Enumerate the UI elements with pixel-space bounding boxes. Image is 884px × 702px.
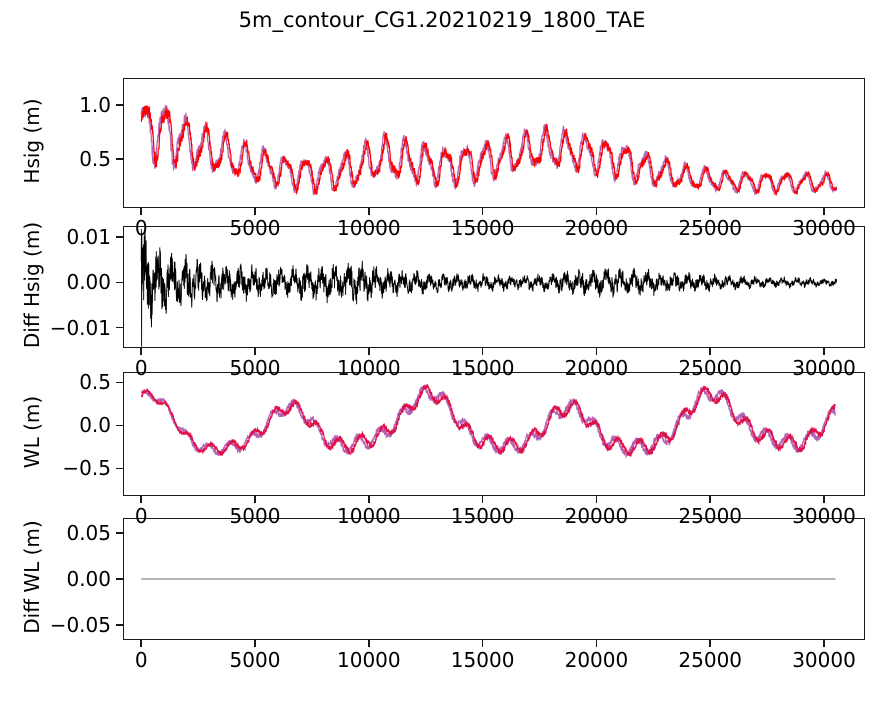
y-tick-label-wl-2: 0.5: [0, 370, 111, 394]
x-tick-mark-hsig-0: [140, 208, 142, 215]
y-tick-label-hsig-1: 1.0: [0, 93, 111, 117]
x-tick-label-hsig-1: 5000: [230, 216, 281, 240]
x-tick-label-diff_hsig-0: 0: [135, 356, 148, 380]
y-tick-mark-diff_wl-0: [116, 624, 123, 626]
subplot-diff-wl: [123, 518, 865, 640]
figure-canvas: 5m_contour_CG1.20210219_1800_TAE 0.51.00…: [0, 0, 884, 690]
plot-area-wl: [123, 372, 865, 496]
x-tick-label-wl-2: 10000: [337, 504, 401, 528]
x-tick-mark-wl-6: [823, 496, 825, 503]
x-tick-label-diff_hsig-3: 15000: [451, 356, 515, 380]
x-tick-label-diff_wl-2: 10000: [337, 648, 401, 672]
x-tick-label-diff_hsig-2: 10000: [337, 356, 401, 380]
x-tick-mark-hsig-6: [823, 208, 825, 215]
x-tick-label-diff_hsig-4: 20000: [565, 356, 629, 380]
x-tick-label-wl-1: 5000: [230, 504, 281, 528]
x-tick-label-diff_wl-1: 5000: [230, 648, 281, 672]
x-tick-mark-hsig-5: [709, 208, 711, 215]
y-tick-mark-hsig-1: [116, 104, 123, 106]
x-tick-mark-diff_wl-6: [823, 640, 825, 647]
x-tick-label-diff_hsig-1: 5000: [230, 356, 281, 380]
x-tick-mark-wl-1: [254, 496, 256, 503]
y-tick-label-hsig-0: 0.5: [0, 147, 111, 171]
x-tick-mark-wl-2: [368, 496, 370, 503]
x-tick-label-wl-5: 25000: [678, 504, 742, 528]
y-tick-label-diff_hsig-0: −0.01: [0, 316, 111, 340]
y-tick-label-diff_wl-0: −0.05: [0, 613, 111, 637]
y-tick-mark-diff_wl-1: [116, 578, 123, 580]
plot-area-hsig: [123, 78, 865, 208]
x-tick-label-diff_wl-4: 20000: [565, 648, 629, 672]
y-tick-mark-diff_hsig-0: [116, 327, 123, 329]
x-tick-mark-diff_hsig-1: [254, 348, 256, 355]
x-tick-label-wl-0: 0: [135, 504, 148, 528]
x-tick-label-hsig-5: 25000: [678, 216, 742, 240]
x-tick-mark-diff_wl-4: [596, 640, 598, 647]
y-tick-label-wl-1: 0.0: [0, 413, 111, 437]
x-tick-mark-diff_wl-5: [709, 640, 711, 647]
x-tick-label-hsig-2: 10000: [337, 216, 401, 240]
x-tick-label-hsig-4: 20000: [565, 216, 629, 240]
y-axis-label-diff_wl: Diff WL (m): [20, 452, 44, 702]
y-tick-label-diff_wl-1: 0.00: [0, 567, 111, 591]
y-tick-label-diff_hsig-2: 0.01: [0, 225, 111, 249]
y-tick-label-wl-0: −0.5: [0, 456, 111, 480]
x-tick-mark-hsig-3: [482, 208, 484, 215]
y-tick-mark-diff_hsig-1: [116, 282, 123, 284]
x-tick-mark-diff_hsig-3: [482, 348, 484, 355]
y-tick-mark-diff_wl-2: [116, 532, 123, 534]
x-tick-mark-diff_hsig-6: [823, 348, 825, 355]
x-tick-mark-wl-5: [709, 496, 711, 503]
y-tick-mark-wl-1: [116, 425, 123, 427]
x-tick-label-diff_wl-5: 25000: [678, 648, 742, 672]
y-tick-label-diff_hsig-1: 0.00: [0, 270, 111, 294]
plot-area-diff-hsig: [123, 226, 865, 348]
x-tick-label-diff_wl-3: 15000: [451, 648, 515, 672]
x-tick-mark-diff_hsig-2: [368, 348, 370, 355]
x-tick-mark-diff_hsig-0: [140, 348, 142, 355]
x-tick-mark-wl-4: [596, 496, 598, 503]
y-tick-mark-wl-2: [116, 382, 123, 384]
x-tick-label-diff_hsig-6: 30000: [792, 356, 856, 380]
x-tick-label-wl-4: 20000: [565, 504, 629, 528]
x-tick-mark-wl-3: [482, 496, 484, 503]
x-tick-mark-diff_wl-1: [254, 640, 256, 647]
subplot-diff-hsig: [123, 226, 865, 348]
y-tick-label-diff_wl-2: 0.05: [0, 521, 111, 545]
x-tick-label-hsig-6: 30000: [792, 216, 856, 240]
figure-title: 5m_contour_CG1.20210219_1800_TAE: [0, 8, 884, 32]
x-tick-mark-diff_wl-3: [482, 640, 484, 647]
x-tick-label-diff_wl-0: 0: [135, 648, 148, 672]
x-tick-label-hsig-0: 0: [135, 216, 148, 240]
y-tick-mark-diff_hsig-2: [116, 236, 123, 238]
x-tick-mark-diff_wl-0: [140, 640, 142, 647]
x-tick-mark-diff_hsig-5: [709, 348, 711, 355]
x-tick-mark-wl-0: [140, 496, 142, 503]
x-tick-label-wl-6: 30000: [792, 504, 856, 528]
subplot-wl: [123, 372, 865, 496]
y-tick-mark-hsig-0: [116, 158, 123, 160]
x-tick-label-wl-3: 15000: [451, 504, 515, 528]
subplot-hsig: [123, 78, 865, 208]
x-tick-mark-hsig-4: [596, 208, 598, 215]
x-tick-label-hsig-3: 15000: [451, 216, 515, 240]
plot-area-diff-wl: [123, 518, 865, 640]
x-tick-mark-hsig-1: [254, 208, 256, 215]
y-tick-mark-wl-0: [116, 468, 123, 470]
x-tick-mark-diff_hsig-4: [596, 348, 598, 355]
x-tick-label-diff_hsig-5: 25000: [678, 356, 742, 380]
x-tick-mark-hsig-2: [368, 208, 370, 215]
x-tick-label-diff_wl-6: 30000: [792, 648, 856, 672]
x-tick-mark-diff_wl-2: [368, 640, 370, 647]
